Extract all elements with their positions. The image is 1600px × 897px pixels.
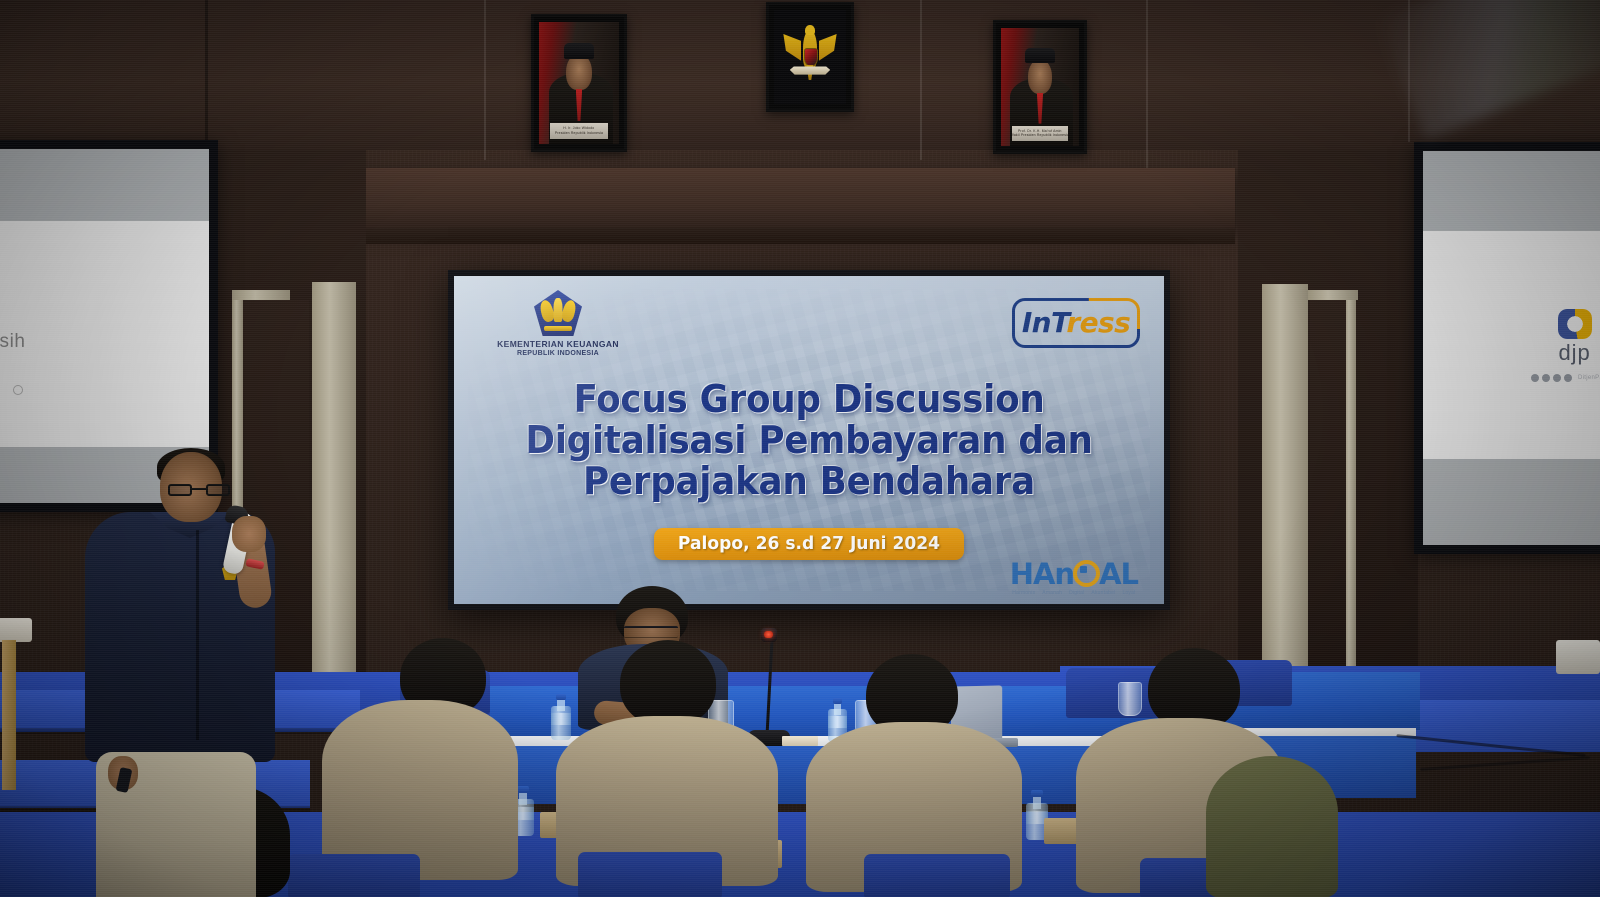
audience-chair	[288, 854, 420, 897]
portrait-face	[1028, 59, 1053, 94]
wall-seam	[1146, 0, 1148, 170]
intress-logo: InTress	[1012, 298, 1140, 348]
emblem-canvas	[774, 10, 846, 104]
garuda-head	[805, 25, 815, 36]
meeting-room-photo: H. Ir. Joko Widodo Presiden Republik Ind…	[0, 0, 1600, 897]
kemenkeu-line-2: REPUBLIK INDONESIA	[492, 350, 624, 357]
audience-torso	[322, 700, 518, 880]
panelist-glasses-icon	[624, 626, 678, 638]
slide-title-block: Focus Group Discussion Digitalisasi Pemb…	[454, 380, 1164, 501]
right-door-leaf	[1310, 300, 1346, 710]
right-door-column	[1262, 284, 1308, 708]
drinking-glass	[1118, 682, 1142, 716]
nameplate-line-2: Wakil Presiden Republik Indonesia	[1012, 134, 1068, 137]
garuda-pancasila-emblem	[766, 2, 854, 112]
portrait-nameplate: H. Ir. Joko Widodo Presiden Republik Ind…	[550, 123, 608, 139]
kemenkeu-logo: KEMENTERIAN KEUANGAN REPUBLIK INDONESIA	[492, 290, 624, 357]
right-screen-shading	[1423, 151, 1600, 545]
glasses-left-lens	[168, 484, 192, 496]
portrait-canvas: Prof. Dr. K.H. Ma'ruf Amin Wakil Preside…	[1001, 28, 1079, 146]
speaker-glasses-icon	[168, 484, 230, 496]
wall-seam	[484, 0, 486, 160]
intress-part-blue: InT	[1022, 306, 1067, 339]
speaker-hand-holding-mic	[232, 516, 266, 552]
slide-title-line-1: Focus Group Discussion	[475, 380, 1142, 419]
nameplate-line-2: Presiden Republik Indonesia	[555, 132, 603, 135]
audience-head	[620, 640, 716, 726]
garuda-icon	[783, 23, 836, 91]
president-portrait: H. Ir. Joko Widodo Presiden Republik Ind…	[531, 14, 627, 152]
portrait-face	[566, 54, 592, 91]
side-equipment	[1556, 640, 1600, 674]
portrait-peci-cap	[564, 43, 594, 59]
wall-seam	[1408, 0, 1410, 142]
lectern-top	[0, 618, 32, 642]
handal-wordmark: HAnAL	[1010, 557, 1138, 589]
portrait-canvas: H. Ir. Joko Widodo Presiden Republik Ind…	[539, 22, 619, 144]
handal-part-a: HAn	[1010, 560, 1074, 589]
audience-chair	[864, 854, 1010, 897]
vice-president-portrait: Prof. Dr. K.H. Ma'ruf Amin Wakil Preside…	[993, 20, 1087, 154]
kemenkeu-wings-icon	[541, 300, 575, 328]
notepad	[782, 736, 818, 746]
right-door-frame	[1308, 290, 1358, 300]
right-projection-screen: djp DitjenPajakRI	[1414, 142, 1600, 554]
intress-wordmark: InTress	[1022, 306, 1130, 339]
ceiling-beam-edge	[355, 228, 1235, 244]
garuda-ribbon	[790, 66, 830, 74]
slide-date-banner: Palopo, 26 s.d 27 Juni 2024	[654, 528, 964, 560]
pancasila-shield-icon	[804, 48, 819, 68]
wall-seam	[205, 0, 208, 150]
kemenkeu-center-stalk	[554, 298, 563, 322]
left-door-column	[312, 282, 356, 710]
kemenkeu-base-bar	[544, 326, 572, 331]
microphone-active-led	[764, 631, 773, 638]
portrait-peci-cap	[1025, 48, 1055, 63]
portrait-nameplate: Prof. Dr. K.H. Ma'ruf Amin Wakil Preside…	[1012, 126, 1068, 141]
speaker-shirt-placket	[196, 530, 199, 740]
slide-title-line-3: Perpajakan Bendahara	[475, 462, 1142, 501]
lectern-post	[2, 640, 16, 790]
glasses-bridge	[192, 488, 206, 490]
right-screen-surface: djp DitjenPajakRI	[1423, 151, 1600, 545]
ceiling-beam	[355, 168, 1235, 230]
slide-date-text: Palopo, 26 s.d 27 Juni 2024	[678, 533, 940, 554]
audience-chair	[578, 852, 722, 897]
garuda-right-wing	[819, 34, 837, 61]
slide-title-line-2: Digitalisasi Pembayaran dan	[475, 421, 1142, 460]
intress-part-tail: ss	[1098, 306, 1130, 339]
left-door-frame	[232, 290, 290, 300]
kemenkeu-shield-icon	[534, 290, 582, 336]
intress-part-orange: re	[1066, 306, 1098, 339]
audience-member-olive	[1206, 756, 1338, 897]
kemenkeu-line-1: KEMENTERIAN KEUANGAN	[492, 339, 624, 349]
handal-logo: HAnAL Harmonis Amanah Digital Akuntabel …	[1010, 557, 1138, 596]
wall-seam	[920, 0, 922, 160]
handal-d-ring-icon	[1073, 560, 1100, 587]
main-slide-surface: KEMENTERIAN KEUANGAN REPUBLIK INDONESIA …	[454, 276, 1164, 604]
main-projection-screen: KEMENTERIAN KEUANGAN REPUBLIK INDONESIA …	[448, 270, 1170, 610]
kemenkeu-right-wing	[561, 299, 578, 323]
water-bottle	[551, 694, 571, 740]
handal-part-b: AL	[1099, 560, 1138, 589]
garuda-left-wing	[783, 34, 801, 61]
glasses-right-lens	[206, 484, 230, 496]
